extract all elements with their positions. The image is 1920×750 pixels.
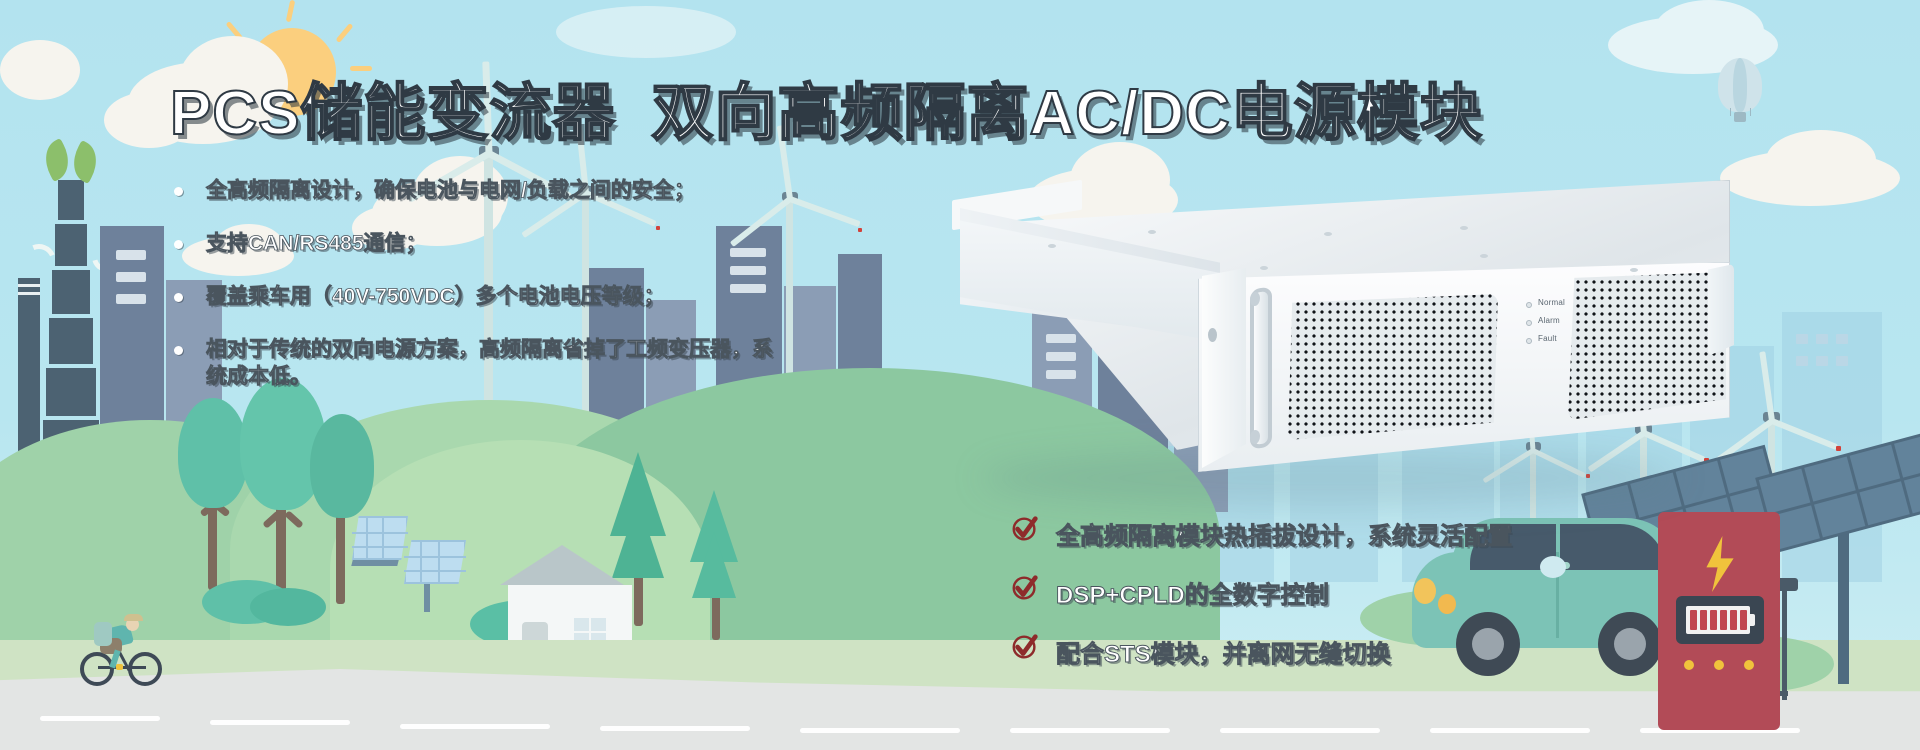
- page-title: PCS储能变流器双向高频隔离AC/DC电源模块: [170, 62, 1483, 152]
- bullet-dot-icon: [174, 346, 183, 355]
- feature-text: 全高频隔离设计，确保电池与电网/负载之间的安全；: [206, 179, 695, 202]
- list-item: DSP+CPLD的全数字控制: [1010, 575, 1512, 610]
- checklist: 全高频隔离模块热插拔设计，系统灵活配置 DSP+CPLD的全数字控制 配合STS…: [1010, 516, 1512, 693]
- check-text: 配合STS模块，并离网无缝切换: [1056, 634, 1391, 669]
- check-text: DSP+CPLD的全数字控制: [1056, 575, 1329, 610]
- rack-mount-pcs-module: Normal Alarm Fault: [940, 180, 1750, 510]
- led-label-normal: Normal: [1538, 298, 1565, 307]
- check-text: 全高频隔离模块热插拔设计，系统灵活配置: [1056, 516, 1512, 551]
- title-part-2: 双向高频隔离AC/DC电源模块: [651, 79, 1482, 148]
- led-label-fault: Fault: [1538, 334, 1557, 343]
- bullet-dot-icon: [174, 187, 183, 196]
- bullet-dot-icon: [174, 293, 183, 302]
- promo-banner: Normal Alarm Fault PCS储能变流器双向高频隔离AC/DC电源…: [0, 0, 1920, 750]
- list-item: 支持CAN/RS485通信；: [170, 231, 870, 258]
- feature-list: 全高频隔离设计，确保电池与电网/负载之间的安全； 支持CAN/RS485通信； …: [170, 178, 870, 416]
- bullet-dot-icon: [174, 240, 183, 249]
- list-item: 全高频隔离设计，确保电池与电网/负载之间的安全；: [170, 178, 870, 205]
- check-circle-icon: [1010, 632, 1040, 662]
- feature-text: 相对于传统的双向电源方案，高频隔离省掉了工频变压器，系统成本低。: [206, 338, 773, 388]
- list-item: 相对于传统的双向电源方案，高频隔离省掉了工频变压器，系统成本低。: [170, 337, 790, 391]
- check-circle-icon: [1010, 573, 1040, 603]
- ventilation-grille: [1568, 272, 1726, 420]
- feature-text: 覆盖乘车用（40V-750VDC）多个电池电压等级；: [206, 285, 665, 308]
- feature-text: 支持CAN/RS485通信；: [206, 232, 427, 255]
- ventilation-grille: [1288, 294, 1498, 440]
- title-part-1: PCS储能变流器: [170, 79, 615, 148]
- list-item: 覆盖乘车用（40V-750VDC）多个电池电压等级；: [170, 284, 870, 311]
- led-label-alarm: Alarm: [1538, 316, 1560, 325]
- list-item: 全高频隔离模块热插拔设计，系统灵活配置: [1010, 516, 1512, 551]
- list-item: 配合STS模块，并离网无缝切换: [1010, 634, 1512, 669]
- check-circle-icon: [1010, 514, 1040, 544]
